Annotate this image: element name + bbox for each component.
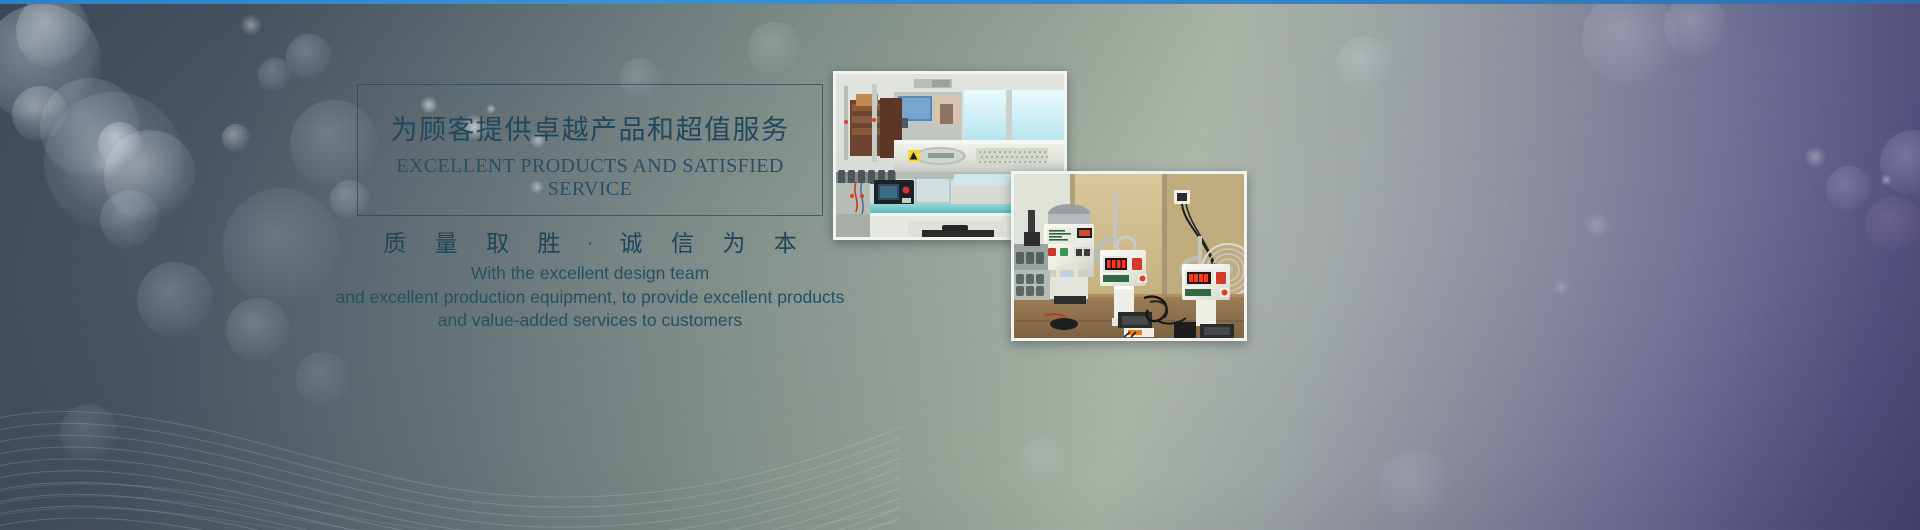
top-accent-rule (0, 0, 1920, 4)
description-paragraph: With the excellent design team and excel… (300, 262, 880, 333)
slogan-char: 量 (435, 230, 458, 256)
paragraph-line: and value-added services to customers (300, 309, 880, 333)
paragraph-line: and excellent production equipment, to p… (300, 286, 880, 310)
headline-english: EXCELLENT PRODUCTS AND SATISFIED SERVICE (357, 155, 823, 201)
slogan-char: 取 (486, 230, 509, 256)
slogan-char: 诚 (620, 230, 643, 256)
slogan-char: 信 (671, 230, 694, 256)
press-machines-photo (1011, 171, 1247, 341)
paragraph-line: With the excellent design team (300, 262, 880, 286)
slogan-char: 胜 (537, 230, 560, 256)
slogan-separator: · (587, 233, 593, 254)
slogan-char: 本 (774, 230, 797, 256)
slogan-char: 质 (383, 230, 406, 256)
headline-chinese: 为顾客提供卓越产品和超值服务 (357, 108, 823, 147)
hero-banner: 为顾客提供卓越产品和超值服务 EXCELLENT PRODUCTS AND SA… (0, 0, 1920, 530)
slogan-line: 质 量 取 胜 · 诚 信 为 本 (357, 224, 823, 258)
slogan-char: 为 (722, 230, 745, 256)
